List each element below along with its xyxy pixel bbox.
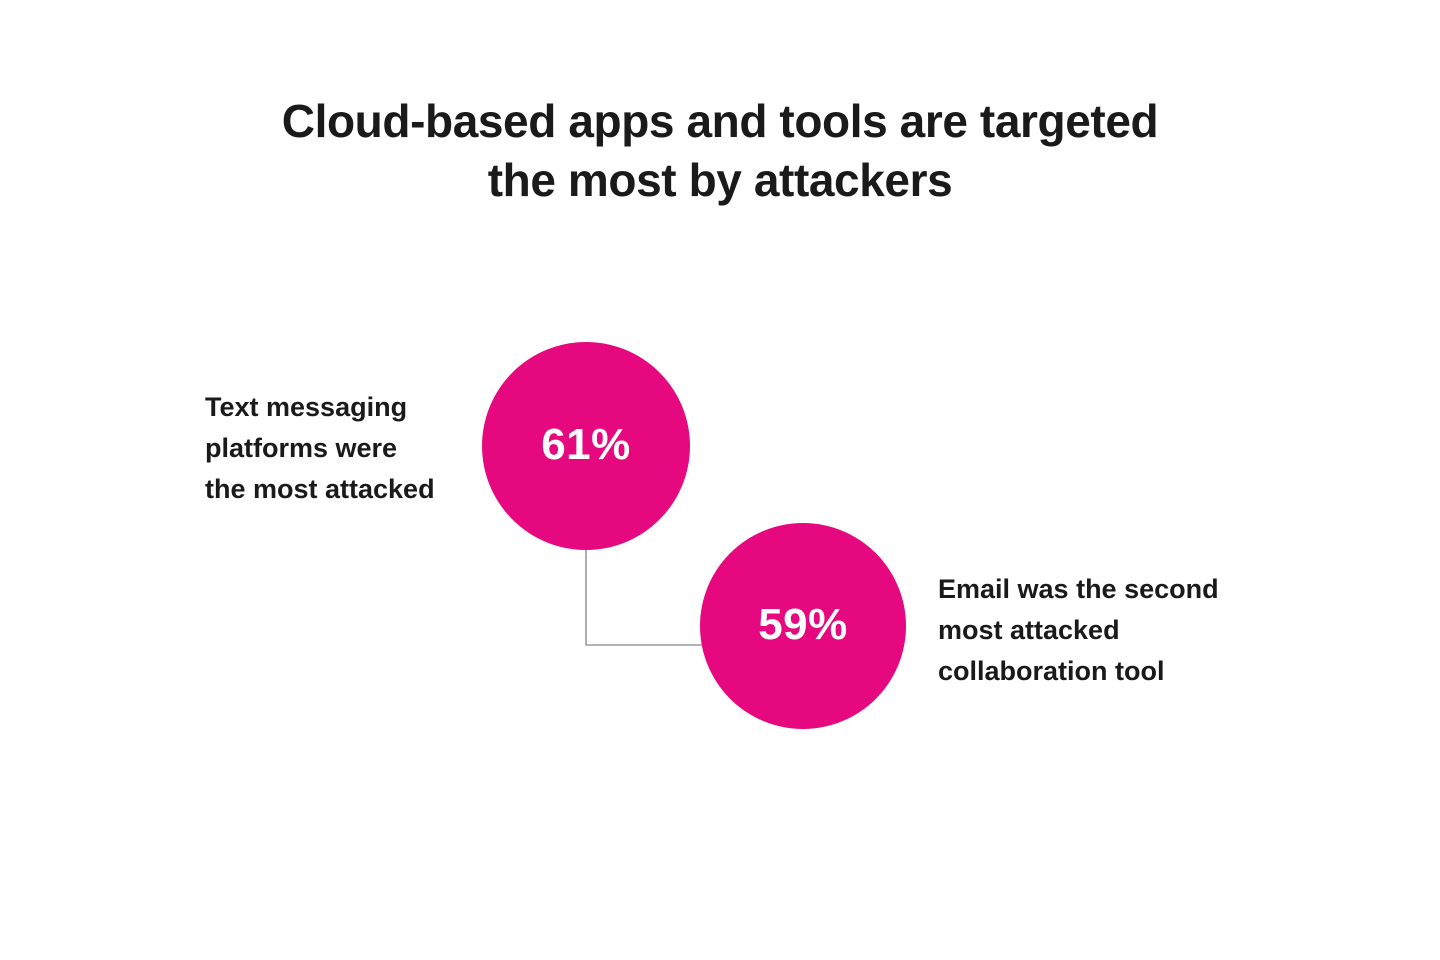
callout-text-messaging: Text messaging platforms were the most a… bbox=[205, 387, 505, 510]
callout-email: Email was the second most attacked colla… bbox=[938, 569, 1268, 692]
bubble-value-text-messaging: 61% bbox=[541, 420, 631, 470]
bubble-email: 59% bbox=[700, 523, 906, 729]
page-title: Cloud-based apps and tools are targeted … bbox=[0, 92, 1440, 210]
connector-path bbox=[586, 549, 703, 645]
bubble-value-email: 59% bbox=[758, 600, 848, 650]
bubble-text-messaging: 61% bbox=[482, 342, 690, 550]
infographic-canvas: Cloud-based apps and tools are targeted … bbox=[0, 0, 1440, 960]
